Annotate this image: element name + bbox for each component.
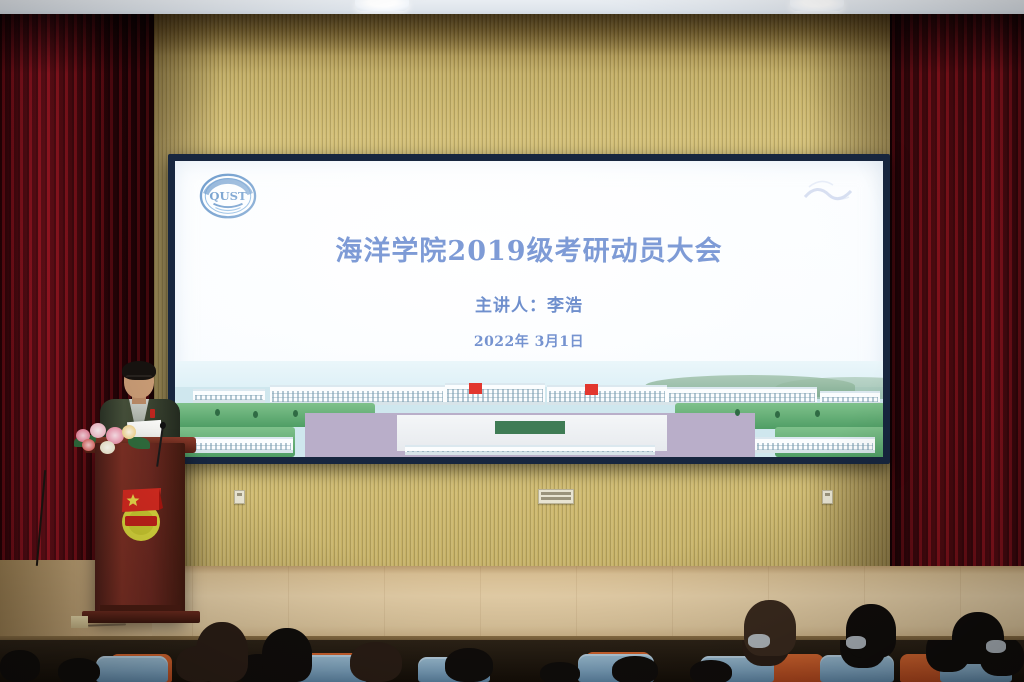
campus-plaza-garden [495,421,565,434]
wall-outlet [234,490,245,504]
campus-tree [735,409,740,416]
svg-text:QUST: QUST [209,189,247,203]
face-mask-icon [986,640,1006,653]
slide-title: 海洋学院2019级考研动员大会 [175,229,883,268]
auditorium-photo: QUST 海洋学院2019级考研动员大会 主讲人：李浩 2022年 3月1日 [0,0,1024,682]
campus-foreground-building [755,437,875,453]
ceiling-light [355,0,409,11]
eyeglasses-icon [126,375,152,383]
seat [96,656,168,682]
face-mask-icon [846,636,866,649]
flower-bloom [100,441,115,454]
audience-head [262,628,312,682]
slide-speaker-line: 主讲人：李浩 [175,291,883,316]
slide-campus-photo [175,361,883,457]
communist-youth-league-emblem-icon [113,482,169,544]
campus-building [193,389,265,403]
campus-foreground-building [405,445,655,455]
campus-foreground-building [183,437,293,453]
audience-head [58,658,100,682]
flower-bloom [122,425,136,439]
audience-head [846,604,896,658]
ceiling-light [790,0,844,11]
audience-head [0,650,40,682]
projection-screen: QUST 海洋学院2019级考研动员大会 主讲人：李浩 2022年 3月1日 [175,161,883,457]
audience-head [196,622,248,682]
audience-head [744,600,796,656]
wall-outlet [822,490,833,504]
campus-building [547,385,667,405]
wall-top-shadow [150,14,894,56]
campus-building [270,385,445,405]
flower-bloom [82,439,95,451]
stage-curtain-right [890,14,1024,580]
curtain-right-top-shadow [890,14,1024,74]
flower-bloom [90,423,106,438]
curtain-left-top-shadow [0,14,154,74]
campus-tree [815,410,820,417]
audience-head [445,648,493,682]
projection-screen-frame: QUST 海洋学院2019级考研动员大会 主讲人：李浩 2022年 3月1日 [168,154,890,464]
wall-outlet-bank [538,489,574,504]
audience-head [612,656,658,682]
slide-date-line: 2022年 3月1日 [175,331,883,351]
audience-head [690,660,732,682]
audience-head [540,662,580,682]
campus-tree [253,411,258,418]
campus-building [445,383,545,405]
flower-leaf [128,437,150,449]
qust-university-seal-icon: QUST [199,167,257,225]
campus-tree [215,409,220,416]
audience-head [350,642,402,682]
campus-flag [469,383,482,394]
campus-tree [293,410,298,417]
campus-tree [775,411,780,418]
face-mask-icon [748,634,770,648]
flower-arrangement [72,415,156,457]
wave-watermark-icon [801,171,855,211]
campus-flag [585,384,598,395]
audience-head [952,612,1004,664]
floor-object [71,616,88,628]
lectern-base [82,611,200,623]
